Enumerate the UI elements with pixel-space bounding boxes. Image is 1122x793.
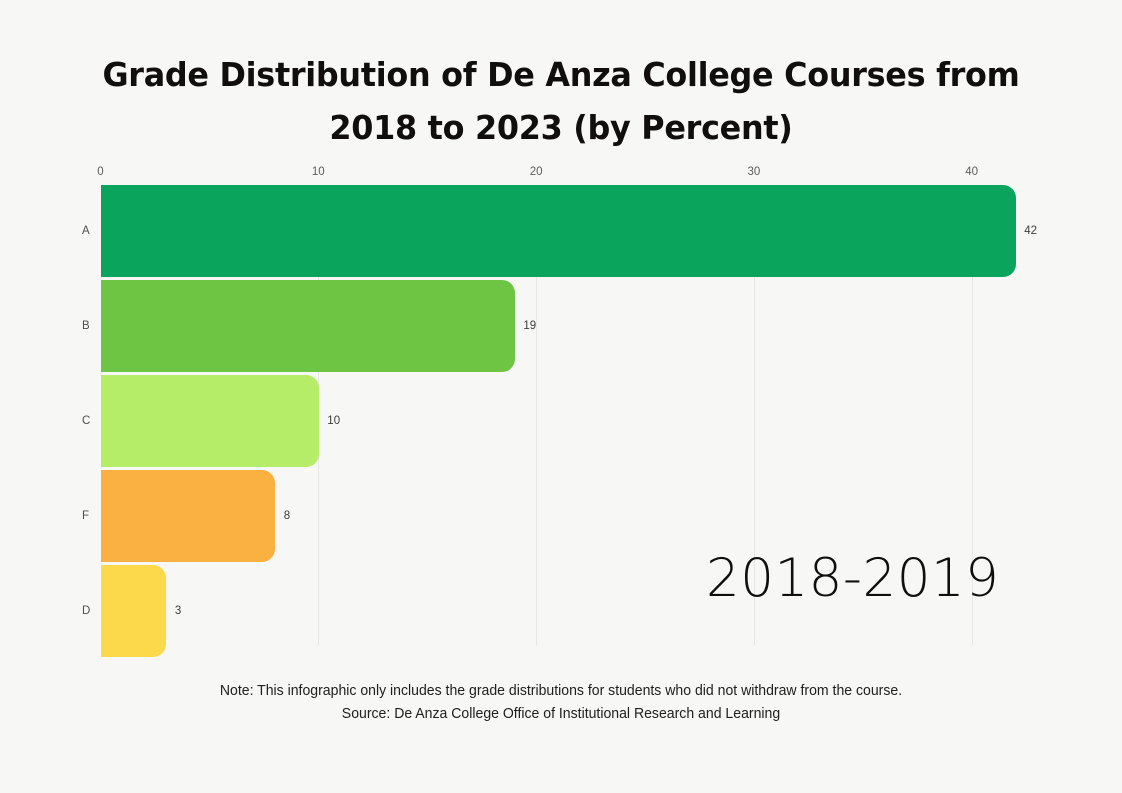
- bar-category-label-d: D: [82, 605, 90, 617]
- bar-d[interactable]: [101, 565, 166, 657]
- bar-value-label-c: 10: [327, 415, 340, 427]
- bar-b[interactable]: [101, 280, 515, 372]
- bar-category-label-b: B: [82, 320, 90, 332]
- bar-category-label-a: A: [82, 225, 90, 237]
- year-annotation: 2018-2019: [706, 548, 999, 609]
- footer-source: Source: De Anza College Office of Instit…: [85, 703, 1038, 726]
- bar-value-label-f: 8: [284, 510, 290, 522]
- bar-value-label-a: 42: [1024, 225, 1037, 237]
- bar-row-b: B19: [0, 280, 1122, 372]
- bar-a[interactable]: [101, 185, 1016, 277]
- footer-note: Note: This infographic only includes the…: [85, 680, 1038, 703]
- bar-f[interactable]: [101, 470, 275, 562]
- bar-category-label-f: F: [82, 510, 89, 522]
- chart-plot-area: 0 10 20 30 40 A42B19C10F8D3 2018-2019: [0, 0, 1122, 793]
- bar-row-c: C10: [0, 375, 1122, 467]
- bar-value-label-d: 3: [175, 605, 181, 617]
- bar-row-a: A42: [0, 185, 1122, 277]
- bar-c[interactable]: [101, 375, 319, 467]
- bar-value-label-b: 19: [523, 320, 536, 332]
- bar-series: A42B19C10F8D3: [0, 0, 1122, 793]
- footer-notes: Note: This infographic only includes the…: [85, 680, 1038, 727]
- grade-distribution-infographic: Grade Distribution of De Anza College Co…: [0, 0, 1122, 793]
- bar-category-label-c: C: [82, 415, 90, 427]
